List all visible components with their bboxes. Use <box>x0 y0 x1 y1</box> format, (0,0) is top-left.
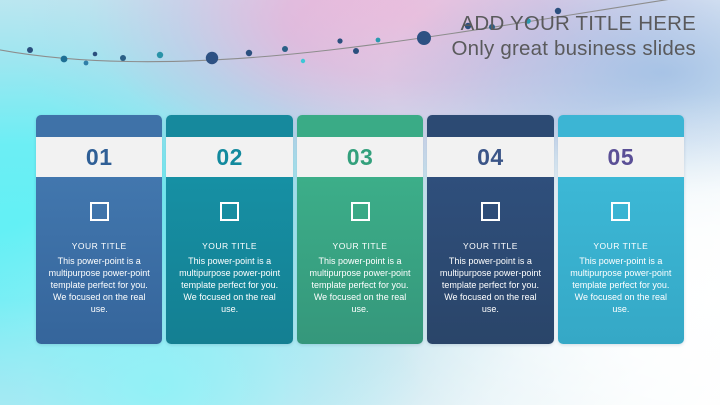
feature-card-03[interactable]: 03YOUR TITLEThis power-point is a multip… <box>297 115 423 344</box>
card-body: YOUR TITLEThis power-point is a multipur… <box>297 177 423 344</box>
card-number: 04 <box>477 144 504 171</box>
garland-dot <box>282 46 288 52</box>
card-title: YOUR TITLE <box>333 241 388 251</box>
card-body: YOUR TITLEThis power-point is a multipur… <box>558 177 684 344</box>
garland-dot <box>206 52 218 64</box>
card-top-bar <box>558 115 684 137</box>
card-body: YOUR TITLEThis power-point is a multipur… <box>427 177 553 344</box>
feature-cards-row: 01YOUR TITLEThis power-point is a multip… <box>36 115 684 344</box>
square-outline-icon <box>220 202 239 221</box>
card-description: This power-point is a multipurpose power… <box>306 256 414 315</box>
card-top-bar <box>36 115 162 137</box>
card-number: 03 <box>347 144 374 171</box>
square-outline-icon <box>90 202 109 221</box>
page-title-line-1: ADD YOUR TITLE HERE <box>452 12 696 36</box>
card-number: 01 <box>86 144 113 171</box>
garland-dot <box>301 59 305 63</box>
card-description: This power-point is a multipurpose power… <box>567 256 675 315</box>
card-top-bar <box>427 115 553 137</box>
garland-dot <box>120 55 126 61</box>
card-number-band: 02 <box>166 137 292 177</box>
card-title: YOUR TITLE <box>593 241 648 251</box>
square-outline-icon <box>611 202 630 221</box>
card-number: 05 <box>608 144 635 171</box>
feature-card-04[interactable]: 04YOUR TITLEThis power-point is a multip… <box>427 115 553 344</box>
card-description: This power-point is a multipurpose power… <box>175 256 283 315</box>
card-number-band: 05 <box>558 137 684 177</box>
feature-card-05[interactable]: 05YOUR TITLEThis power-point is a multip… <box>558 115 684 344</box>
slide-canvas: ADD YOUR TITLE HERE Only great business … <box>0 0 720 405</box>
card-number-band: 03 <box>297 137 423 177</box>
garland-dot <box>353 48 359 54</box>
card-body: YOUR TITLEThis power-point is a multipur… <box>166 177 292 344</box>
card-number-band: 01 <box>36 137 162 177</box>
feature-card-02[interactable]: 02YOUR TITLEThis power-point is a multip… <box>166 115 292 344</box>
page-title: ADD YOUR TITLE HERE Only great business … <box>452 12 696 61</box>
card-description: This power-point is a multipurpose power… <box>436 256 544 315</box>
garland-dot <box>61 56 68 63</box>
square-outline-icon <box>351 202 370 221</box>
garland-dot <box>27 47 33 53</box>
garland-dot <box>93 52 98 57</box>
page-title-line-2: Only great business slides <box>452 37 696 61</box>
garland-dot <box>417 31 431 45</box>
feature-card-01[interactable]: 01YOUR TITLEThis power-point is a multip… <box>36 115 162 344</box>
garland-dot <box>337 38 342 43</box>
card-title: YOUR TITLE <box>202 241 257 251</box>
card-title: YOUR TITLE <box>72 241 127 251</box>
garland-dot <box>157 52 163 58</box>
card-title: YOUR TITLE <box>463 241 518 251</box>
card-top-bar <box>166 115 292 137</box>
card-description: This power-point is a multipurpose power… <box>45 256 153 315</box>
card-number-band: 04 <box>427 137 553 177</box>
card-number: 02 <box>216 144 243 171</box>
garland-dot <box>376 38 381 43</box>
square-outline-icon <box>481 202 500 221</box>
card-top-bar <box>297 115 423 137</box>
card-body: YOUR TITLEThis power-point is a multipur… <box>36 177 162 344</box>
garland-dot <box>246 50 252 56</box>
garland-dot <box>84 61 89 66</box>
